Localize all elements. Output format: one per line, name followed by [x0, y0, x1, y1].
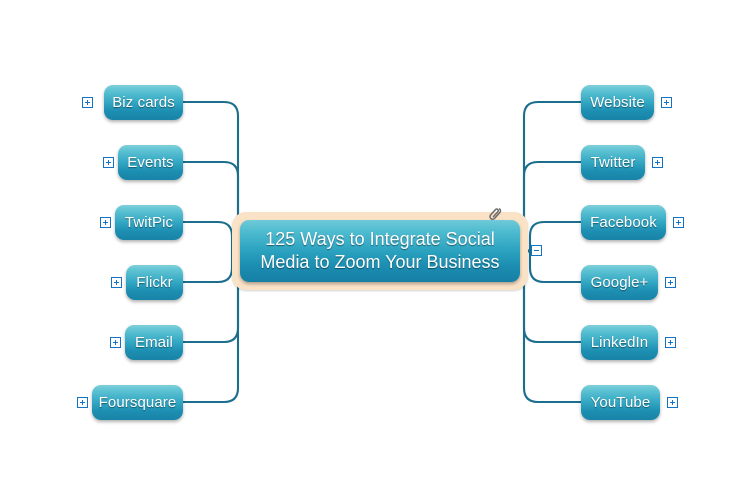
node-foursquare[interactable]: Foursquare: [92, 385, 183, 420]
expand-toggle-foursquare[interactable]: [77, 397, 88, 408]
node-biz-cards[interactable]: Biz cards: [104, 85, 183, 120]
paperclip-icon[interactable]: [486, 205, 504, 223]
expand-toggle-youtube[interactable]: [667, 397, 678, 408]
node-label: Facebook: [588, 215, 659, 230]
node-flickr[interactable]: Flickr: [126, 265, 183, 300]
connector-right-1: [524, 162, 581, 251]
node-label: TwitPic: [123, 215, 175, 230]
connector-right-4: [524, 251, 581, 342]
expand-toggle-twitpic[interactable]: [100, 217, 111, 228]
node-label: Foursquare: [97, 395, 179, 410]
expand-toggle-website[interactable]: [661, 97, 672, 108]
node-email[interactable]: Email: [125, 325, 183, 360]
root-node[interactable]: 125 Ways to Integrate Social Media to Zo…: [240, 220, 520, 282]
expand-toggle-linkedin[interactable]: [665, 337, 676, 348]
connector-left-4: [183, 251, 238, 342]
node-label: Flickr: [134, 275, 174, 290]
node-events[interactable]: Events: [118, 145, 183, 180]
node-website[interactable]: Website: [581, 85, 654, 120]
expand-toggle-events[interactable]: [103, 157, 114, 168]
connector-left-3: [183, 251, 232, 282]
node-facebook[interactable]: Facebook: [581, 205, 666, 240]
node-linkedin[interactable]: LinkedIn: [581, 325, 658, 360]
connector-left-1: [183, 162, 238, 251]
expand-toggle-email[interactable]: [110, 337, 121, 348]
node-google-plus[interactable]: Google+: [581, 265, 658, 300]
root-collapse-toggle[interactable]: [531, 245, 542, 256]
node-label: Biz cards: [110, 95, 177, 110]
expand-toggle-facebook[interactable]: [673, 217, 684, 228]
node-label: Google+: [589, 275, 651, 290]
expand-toggle-google-plus[interactable]: [665, 277, 676, 288]
connector-left-5: [183, 251, 238, 402]
expand-toggle-flickr[interactable]: [111, 277, 122, 288]
node-label: Twitter: [589, 155, 638, 170]
node-label: Website: [588, 95, 647, 110]
connector-left-2: [183, 222, 232, 251]
node-youtube[interactable]: YouTube: [581, 385, 660, 420]
connector-left-0: [183, 102, 238, 251]
connector-right-5: [524, 251, 581, 402]
node-label: Events: [125, 155, 175, 170]
node-label: LinkedIn: [589, 335, 651, 350]
node-twitpic[interactable]: TwitPic: [115, 205, 183, 240]
expand-toggle-twitter[interactable]: [652, 157, 663, 168]
connector-right-0: [524, 102, 581, 251]
root-node-label: 125 Ways to Integrate Social Media to Zo…: [250, 228, 509, 274]
node-twitter[interactable]: Twitter: [581, 145, 645, 180]
node-label: YouTube: [589, 395, 653, 410]
node-label: Email: [133, 335, 175, 350]
expand-toggle-biz-cards[interactable]: [82, 97, 93, 108]
mindmap-canvas: 125 Ways to Integrate Social Media to Zo…: [0, 0, 750, 500]
